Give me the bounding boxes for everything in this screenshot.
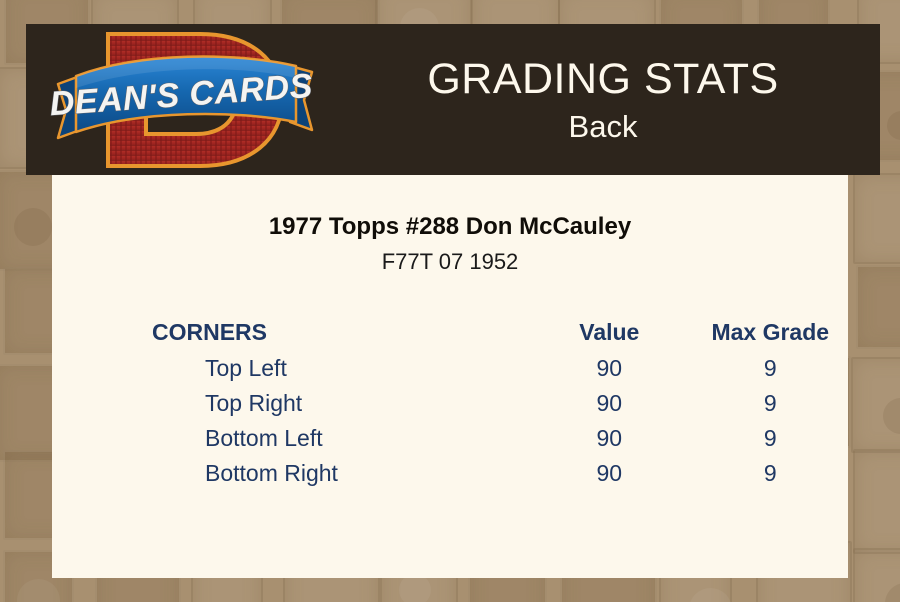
watermark-figure	[399, 574, 431, 602]
row-max-grade: 9	[688, 456, 852, 491]
page-title: GRADING STATS	[427, 54, 778, 104]
row-label: Top Left	[152, 351, 530, 386]
table-row: Top Left909	[152, 351, 852, 386]
watermark-card	[856, 265, 900, 349]
row-max-grade: 9	[688, 351, 852, 386]
card-title: 1977 Topps #288 Don McCauley	[52, 213, 848, 241]
column-header-corners: CORNERS	[152, 313, 530, 351]
content-panel: 1977 Topps #288 Don McCauley F77T 07 195…	[52, 175, 848, 578]
column-header-max-grade: Max Grade	[688, 313, 852, 351]
column-header-value: Value	[530, 313, 688, 351]
row-value: 90	[530, 456, 688, 491]
header-title-block: GRADING STATS Back	[326, 24, 880, 175]
row-label: Bottom Right	[152, 456, 530, 491]
table-row: Bottom Left909	[152, 421, 852, 456]
deans-cards-logo[interactable]: DEAN'S CARDS	[50, 26, 320, 174]
table-header-row: CORNERS Value Max Grade	[152, 313, 852, 351]
header-bar: DEAN'S CARDS GRADING STATS Back	[26, 24, 880, 175]
row-max-grade: 9	[688, 386, 852, 421]
table-row: Top Right909	[152, 386, 852, 421]
row-label: Bottom Left	[152, 421, 530, 456]
row-value: 90	[530, 351, 688, 386]
row-value: 90	[530, 421, 688, 456]
row-label: Top Right	[152, 386, 530, 421]
grading-stats-table: CORNERS Value Max Grade Top Left909Top R…	[152, 313, 852, 491]
row-max-grade: 9	[688, 421, 852, 456]
page-subtitle: Back	[569, 108, 638, 146]
table-row: Bottom Right909	[152, 456, 852, 491]
card-code: F77T 07 1952	[52, 249, 848, 275]
row-value: 90	[530, 386, 688, 421]
watermark-card	[853, 173, 900, 264]
watermark-card	[853, 449, 900, 554]
watermark-figure	[14, 208, 52, 246]
